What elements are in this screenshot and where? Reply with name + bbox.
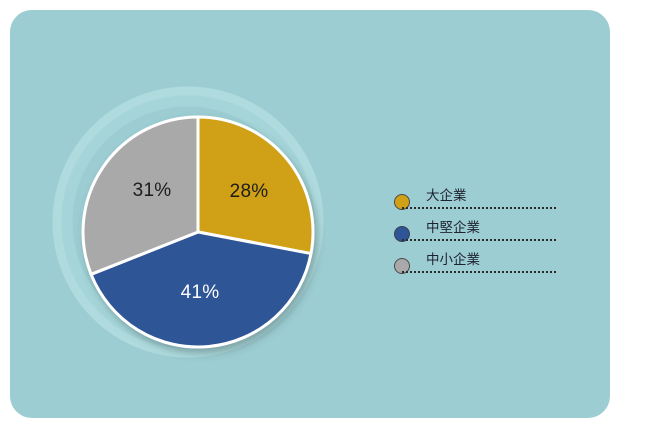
legend-label-large-enterprise: 大企業	[426, 185, 467, 207]
legend-item-large-enterprise[interactable]: 大企業	[394, 185, 594, 217]
chart-card: 28%41%31% 大企業 中堅企業 中小企業	[10, 10, 610, 418]
chart-legend: 大企業 中堅企業 中小企業	[394, 185, 594, 281]
legend-leader-line	[402, 207, 556, 209]
pie-slice-group	[83, 117, 313, 347]
pie-chart: 28%41%31%	[10, 10, 370, 418]
legend-item-small-enterprise[interactable]: 中小企業	[394, 249, 594, 281]
legend-label-midsize-enterprise: 中堅企業	[426, 217, 480, 239]
legend-label-small-enterprise: 中小企業	[426, 249, 480, 271]
legend-leader-line	[402, 239, 556, 241]
legend-leader-line	[402, 271, 556, 273]
screenshot-root: 28%41%31% 大企業 中堅企業 中小企業	[0, 0, 650, 434]
pie-slice[interactable]	[198, 117, 313, 254]
legend-item-midsize-enterprise[interactable]: 中堅企業	[394, 217, 594, 249]
pie-chart-svg	[10, 10, 370, 418]
